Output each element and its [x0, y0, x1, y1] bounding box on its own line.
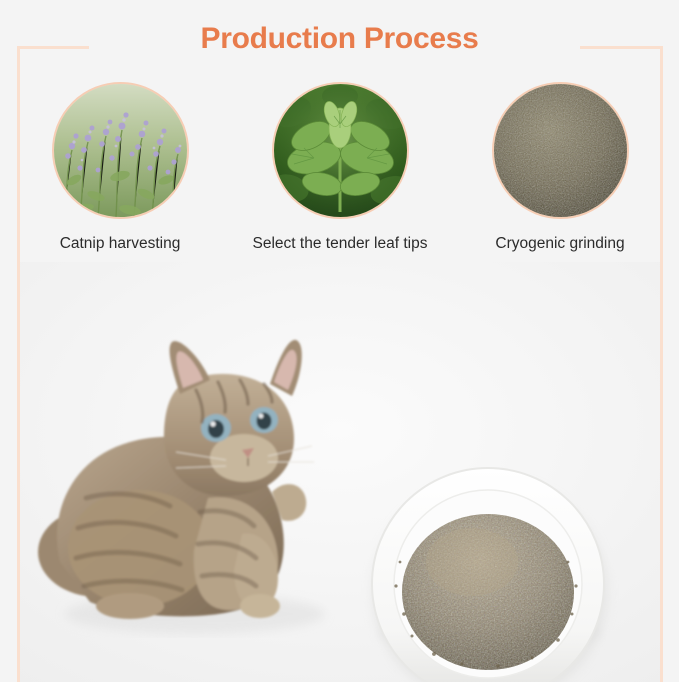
- process-step-leaf-selection: Select the tender leaf tips: [240, 82, 440, 253]
- step-label-catnip-harvesting: Catnip harvesting: [60, 235, 181, 253]
- process-steps: Catnip harvesting: [20, 82, 660, 253]
- catnip-powder-photo: [492, 82, 629, 219]
- page-title: Production Process: [0, 22, 679, 56]
- catnip-leaves-photo: [272, 82, 409, 219]
- hero-photo-area: [20, 262, 660, 682]
- step-label-leaf-selection: Select the tender leaf tips: [253, 235, 428, 253]
- process-step-catnip-harvesting: Catnip harvesting: [20, 82, 220, 253]
- infographic-page: Production Process: [0, 0, 679, 682]
- catnip-field-photo: [52, 82, 189, 219]
- process-step-cryogenic-grinding: Cryogenic grinding: [460, 82, 660, 253]
- step-label-cryogenic-grinding: Cryogenic grinding: [495, 235, 624, 253]
- frame-right-border: [660, 46, 663, 682]
